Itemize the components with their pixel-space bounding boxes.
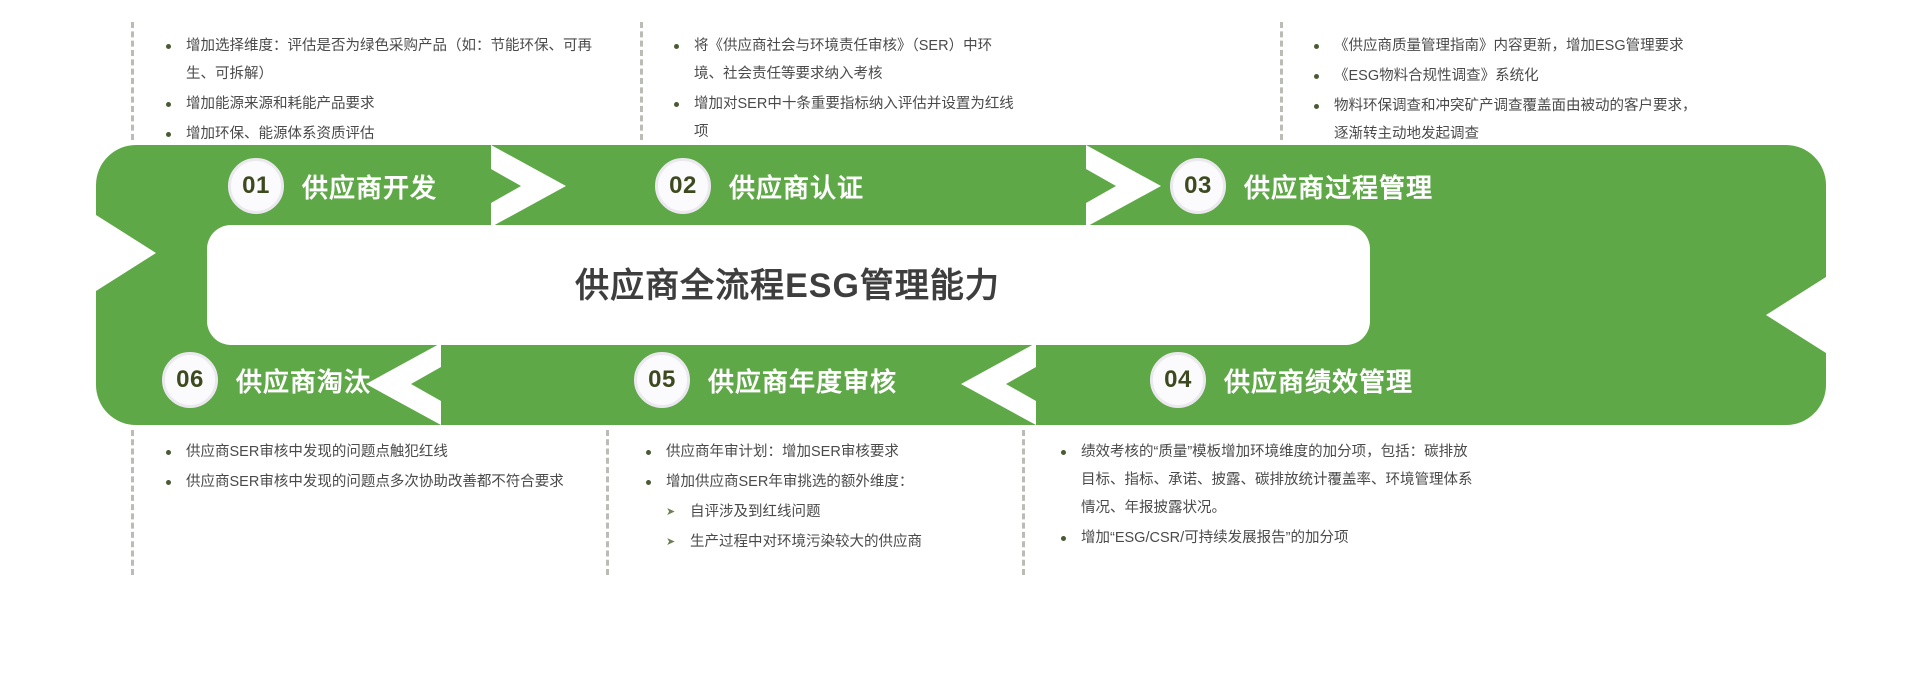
- stage-04-label: 供应商绩效管理: [1224, 362, 1413, 399]
- notes-top-stage-01: 增加选择维度：评估是否为绿色采购产品（如：节能环保、可再生、可拆解） 增加能源来…: [160, 32, 600, 150]
- list-item: 供应商年审计划：增加SER审核要求: [640, 438, 1020, 466]
- stage-01-label: 供应商开发: [302, 168, 437, 205]
- stage-01[interactable]: 01 供应商开发: [228, 158, 437, 214]
- notes-bottom-stage-06: 供应商SER审核中发现的问题点触犯红线 供应商SER审核中发现的问题点多次协助改…: [160, 438, 610, 498]
- stage-06-number: 06: [162, 352, 218, 408]
- stage-04-number: 04: [1150, 352, 1206, 408]
- stage-01-number: 01: [228, 158, 284, 214]
- stage-02-label: 供应商认证: [729, 168, 864, 205]
- notes-bottom-stage-05: 供应商年审计划：增加SER审核要求 增加供应商SER年审挑选的额外维度： 自评涉…: [640, 438, 1020, 558]
- divider-top-right: [1280, 22, 1283, 140]
- list-item: 物料环保调查和冲突矿产调查覆盖面由被动的客户要求，逐渐转主动地发起调查: [1308, 92, 1708, 148]
- stage-05-label: 供应商年度审核: [708, 362, 897, 399]
- list-item: 供应商SER审核中发现的问题点多次协助改善都不符合要求: [160, 468, 610, 496]
- stage-03-label: 供应商过程管理: [1244, 168, 1433, 205]
- stage-02-number: 02: [655, 158, 711, 214]
- divider-top-left: [131, 22, 134, 140]
- notes-top-stage-03: 《供应商质量管理指南》内容更新，增加ESG管理要求 《ESG物料合规性调查》系统…: [1308, 32, 1708, 150]
- list-item: 《ESG物料合规性调查》系统化: [1308, 62, 1708, 90]
- list-item: 供应商SER审核中发现的问题点触犯红线: [160, 438, 610, 466]
- notes-bottom-stage-04: 绩效考核的“质量”模板增加环境维度的加分项，包括：碳排放目标、指标、承诺、披露、…: [1055, 438, 1475, 554]
- esg-process-diagram: 增加选择维度：评估是否为绿色采购产品（如：节能环保、可再生、可拆解） 增加能源来…: [0, 0, 1919, 697]
- stage-06-label: 供应商淘汰: [236, 362, 371, 399]
- list-item: 增加供应商SER年审挑选的额外维度：: [640, 468, 1020, 496]
- list-item-sub: 生产过程中对环境污染较大的供应商: [664, 528, 1020, 556]
- divider-bottom-right: [1022, 430, 1025, 575]
- stage-03-number: 03: [1170, 158, 1226, 214]
- notes-top-stage-02: 将《供应商社会与环境责任审核》（SER）中环境、社会责任等要求纳入考核 增加对S…: [668, 32, 1018, 148]
- list-item: 增加能源来源和耗能产品要求: [160, 90, 600, 118]
- list-item: 增加环保、能源体系资质评估: [160, 120, 600, 148]
- list-item: 增加选择维度：评估是否为绿色采购产品（如：节能环保、可再生、可拆解）: [160, 32, 600, 88]
- list-item: 将《供应商社会与环境责任审核》（SER）中环境、社会责任等要求纳入考核: [668, 32, 1018, 88]
- stage-04[interactable]: 04 供应商绩效管理: [1150, 352, 1413, 408]
- list-item-sub: 自评涉及到红线问题: [664, 498, 1020, 526]
- stage-03[interactable]: 03 供应商过程管理: [1170, 158, 1433, 214]
- divider-top-mid: [640, 22, 643, 140]
- list-item: 增加“ESG/CSR/可持续发展报告”的加分项: [1055, 524, 1475, 552]
- stage-06[interactable]: 06 供应商淘汰: [162, 352, 371, 408]
- stage-05-number: 05: [634, 352, 690, 408]
- list-item: 增加对SER中十条重要指标纳入评估并设置为红线项: [668, 90, 1018, 146]
- page-title: 供应商全流程ESG管理能力: [205, 225, 1370, 340]
- divider-bottom-left: [131, 430, 134, 575]
- stage-05[interactable]: 05 供应商年度审核: [634, 352, 897, 408]
- stage-02[interactable]: 02 供应商认证: [655, 158, 864, 214]
- list-item: 绩效考核的“质量”模板增加环境维度的加分项，包括：碳排放目标、指标、承诺、披露、…: [1055, 438, 1475, 522]
- list-item: 《供应商质量管理指南》内容更新，增加ESG管理要求: [1308, 32, 1708, 60]
